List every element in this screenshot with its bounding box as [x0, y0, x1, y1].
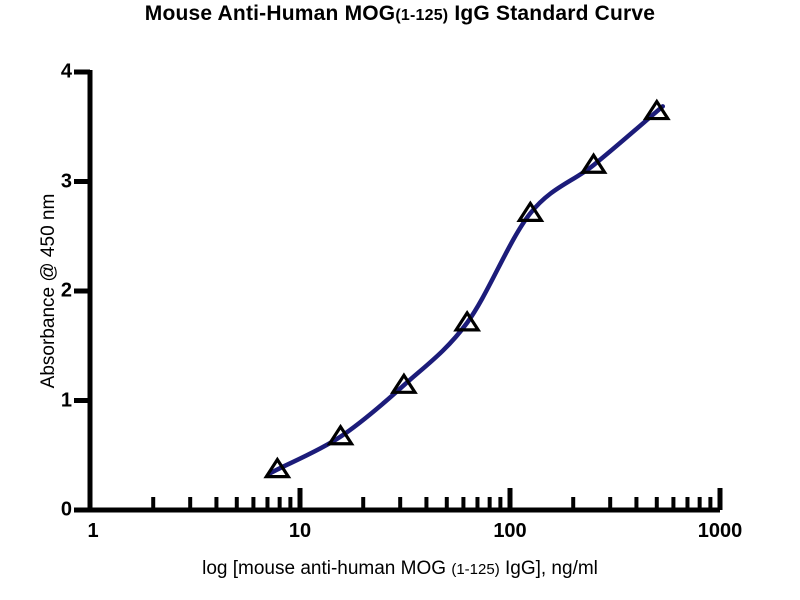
x-tick-label-100: 100	[493, 520, 526, 543]
x-tick-label-1000: 1000	[698, 520, 743, 543]
x-tick-label-10: 10	[289, 520, 311, 543]
x-axis-label-subscript: (1-125)	[451, 561, 499, 578]
x-axis-label-tail: IgG], ng/ml	[505, 558, 598, 579]
chart-figure: Mouse Anti-Human MOG(1-125) IgG Standard…	[0, 0, 800, 600]
plot-area	[0, 0, 800, 600]
x-axis-label-main: log [mouse anti-human MOG	[202, 558, 446, 579]
y-tick-label-4: 4	[42, 61, 72, 84]
fit-curve	[270, 106, 663, 473]
chart-title-main: Mouse Anti-Human MOG	[145, 2, 396, 25]
chart-title: Mouse Anti-Human MOG(1-125) IgG Standard…	[0, 2, 800, 26]
x-tick-label-1: 1	[87, 520, 98, 543]
y-tick-label-0: 0	[42, 499, 72, 522]
data-point-markers	[266, 102, 667, 477]
chart-title-tail: IgG Standard Curve	[454, 2, 655, 25]
x-axis-label: log [mouse anti-human MOG (1-125) IgG], …	[0, 558, 800, 580]
chart-title-subscript: (1-125)	[395, 7, 448, 24]
y-axis-label: Absorbance @ 450 nm	[38, 91, 60, 491]
x-axis-ticks	[90, 488, 720, 510]
